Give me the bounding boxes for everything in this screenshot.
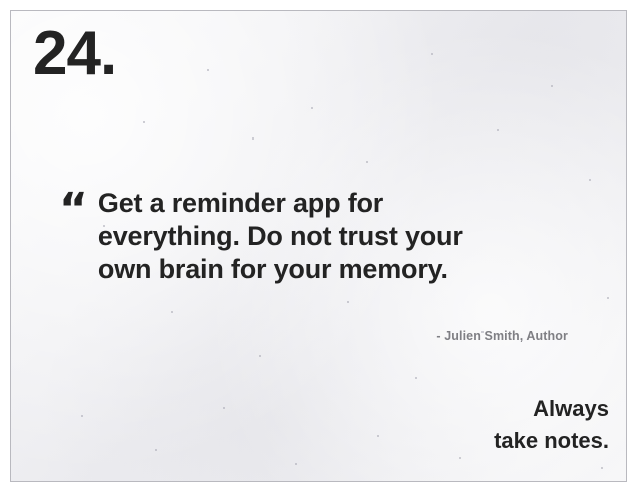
quote-line: Get a reminder app for [98, 187, 579, 220]
quote-row: “ Get a reminder app for everything. Do … [59, 187, 579, 286]
quote-text: Get a reminder app for everything. Do no… [98, 187, 579, 286]
quote-block: “ Get a reminder app for everything. Do … [59, 187, 579, 286]
slide-number: 24. [33, 23, 116, 85]
closing-note-line: take notes. [59, 425, 609, 457]
closing-note: Always take notes. [59, 393, 609, 457]
slide-canvas: 24. “ Get a reminder app for everything.… [10, 10, 627, 482]
quote-line: everything. Do not trust your [98, 220, 579, 253]
quote-line: own brain for your memory. [98, 253, 579, 286]
quote-attribution: - Julien Smith, Author [59, 329, 568, 343]
open-quote-icon: “ [59, 189, 88, 231]
closing-note-line: Always [59, 393, 609, 425]
